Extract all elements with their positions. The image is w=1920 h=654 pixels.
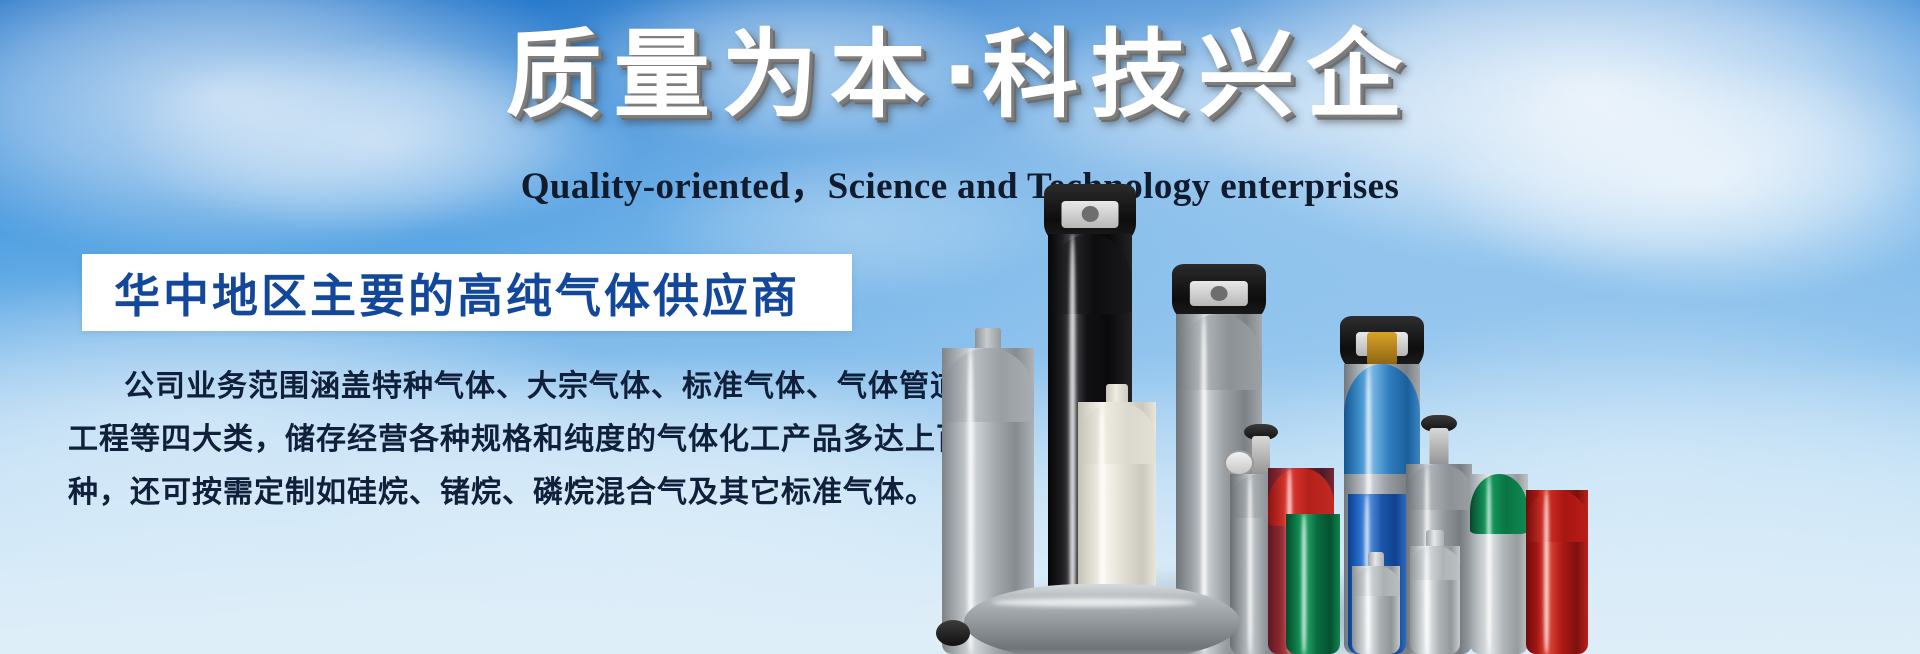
highlight-box-text: 华中地区主要的高纯气体供应商 xyxy=(82,260,800,326)
tank-valve-knob xyxy=(936,620,970,646)
description-paragraph: 公司业务范围涵盖特种气体、大宗气体、标准气体、气体管道 工程等四大类，储存经营各… xyxy=(68,360,868,519)
cylinder-green-short xyxy=(1470,474,1528,654)
cylinder-red-short xyxy=(1526,490,1588,654)
cylinder-green-small xyxy=(1286,514,1340,654)
gas-cylinder-product-group xyxy=(930,0,1550,654)
cylinder-aluminium-a xyxy=(1410,532,1460,654)
brass-valve xyxy=(1367,332,1397,366)
paragraph-line-3: 种，还可按需定制如硅烷、锗烷、磷烷混合气及其它标准气体。 xyxy=(68,466,868,519)
headline-left: 质量为本 xyxy=(506,19,938,131)
valve-stem xyxy=(1430,428,1449,468)
highlight-box: 华中地区主要的高纯气体供应商 xyxy=(82,254,852,331)
paragraph-line-2: 工程等四大类，储存经营各种规格和纯度的气体化工产品多达上百 xyxy=(68,413,868,466)
cylinder-aluminium-b xyxy=(1352,554,1400,654)
pressure-gauge xyxy=(1224,450,1254,476)
promotional-banner: 质量为本·科技兴企 Quality-oriented，Science and T… xyxy=(0,0,1920,654)
paragraph-line-1: 公司业务范围涵盖特种气体、大宗气体、标准气体、气体管道 xyxy=(68,360,868,413)
tank-horizontal-grey xyxy=(964,584,1240,654)
